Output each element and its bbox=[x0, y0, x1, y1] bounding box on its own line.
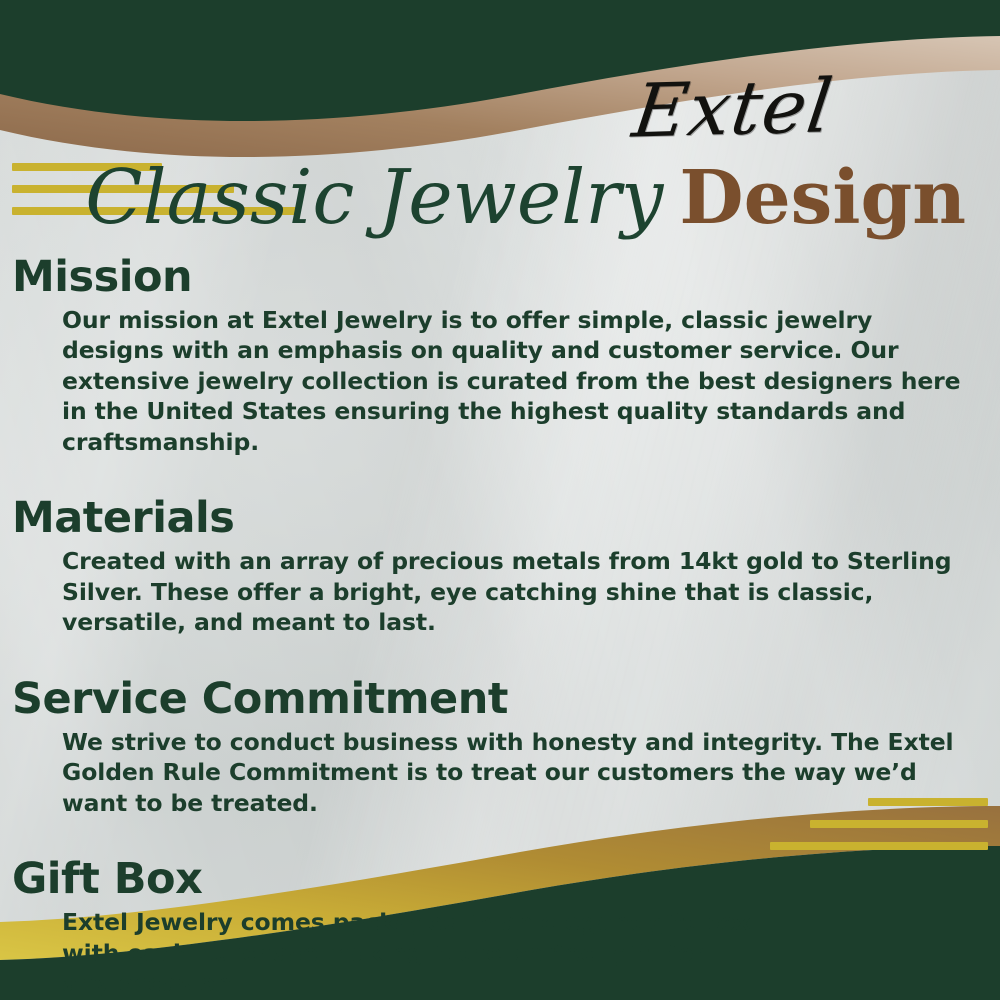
brand-logo-extel: Extel bbox=[629, 69, 837, 148]
section-heading-gift-box: Gift Box bbox=[12, 854, 1000, 905]
section-mission: Mission Our mission at Extel Jewelry is … bbox=[0, 252, 1000, 457]
poster-title: Classic JewelryDesign bbox=[0, 153, 966, 241]
section-body-service-commitment: We strive to conduct business with hones… bbox=[62, 727, 966, 819]
section-heading-service-commitment: Service Commitment bbox=[12, 674, 1000, 725]
section-body-gift-box: Extel Jewelry comes packaged in an elega… bbox=[62, 907, 760, 999]
poster-canvas: Extel Classic JewelryDesign Mission Our … bbox=[0, 0, 1000, 1000]
title-accent-text: Design bbox=[679, 155, 966, 241]
section-service-commitment: Service Commitment We strive to conduct … bbox=[0, 674, 1000, 818]
section-materials: Materials Created with an array of preci… bbox=[0, 493, 1000, 637]
section-body-materials: Created with an array of precious metals… bbox=[62, 546, 966, 638]
section-body-mission: Our mission at Extel Jewelry is to offer… bbox=[62, 305, 966, 458]
title-main-text: Classic Jewelry bbox=[85, 153, 663, 241]
section-heading-materials: Materials bbox=[12, 493, 1000, 544]
section-heading-mission: Mission bbox=[12, 252, 1000, 303]
content-sections: Mission Our mission at Extel Jewelry is … bbox=[0, 252, 1000, 1000]
section-gift-box: Gift Box Extel Jewelry comes packaged in… bbox=[0, 854, 1000, 998]
